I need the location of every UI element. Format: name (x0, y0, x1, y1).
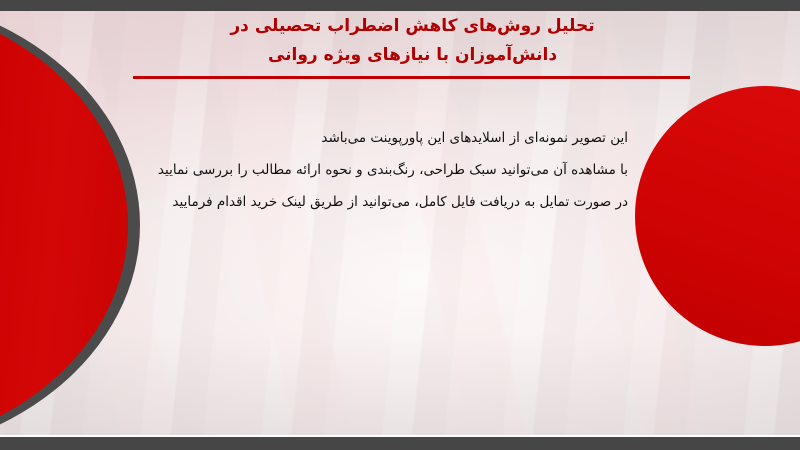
title-underline-rule (133, 76, 690, 79)
slide-title: تحلیل روش‌های کاهش اضطراب تحصیلی در دانش… (130, 12, 695, 70)
slide-body-line-1: این تصویر نمونه‌ای از اسلایدهای این پاور… (158, 122, 628, 154)
slide-body-line-3: در صورت تمایل به دریافت فایل کامل، می‌تو… (158, 186, 628, 218)
slide-title-line-1: تحلیل روش‌های کاهش اضطراب تحصیلی در (130, 12, 695, 41)
slide-body-line-2: با مشاهده آن می‌توانید سبک طراحی، رنگ‌بن… (158, 154, 628, 186)
slide-title-line-2: دانش‌آموزان با نیازهای ویژه روانی (130, 41, 695, 70)
bottom-accent-bar (0, 437, 800, 450)
decorative-red-lens-shape (0, 0, 140, 450)
presentation-slide: تحلیل روش‌های کاهش اضطراب تحصیلی در دانش… (0, 0, 800, 450)
top-accent-bar (0, 0, 800, 11)
slide-body-text: این تصویر نمونه‌ای از اسلایدهای این پاور… (158, 122, 628, 218)
